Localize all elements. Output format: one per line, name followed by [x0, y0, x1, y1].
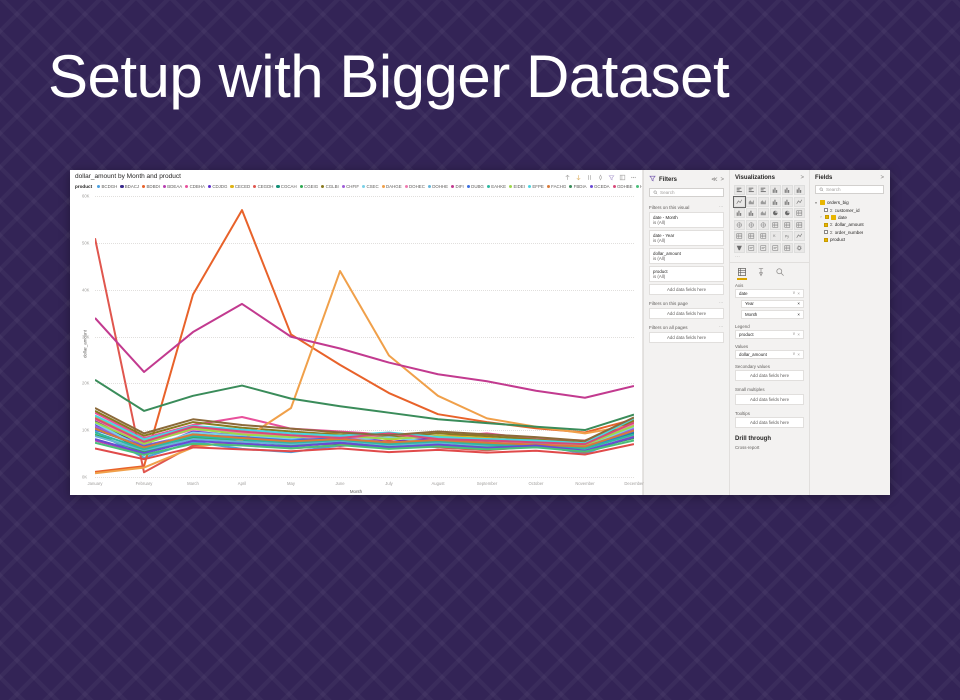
visualization-type-col[interactable] [770, 185, 781, 195]
svg-text:K: K [774, 234, 777, 238]
field-well-chip[interactable]: product∨× [735, 330, 804, 339]
chevron-down-icon[interactable]: ∨ [792, 331, 795, 337]
visualization-type-grid[interactable]: KPy [730, 185, 809, 253]
legend-color-swatch [590, 185, 593, 188]
legend-color-swatch [382, 185, 385, 188]
chevron-down-icon[interactable]: ∨ [792, 290, 795, 296]
legend-color-swatch [528, 185, 531, 188]
x-axis-tick-label: February [136, 481, 153, 486]
chart-legend[interactable]: product BCDGHBDACJBDBDIBDEAACDBHACDJDGCE… [70, 183, 642, 192]
field-well-subfield[interactable]: Year× [741, 300, 804, 309]
field-wells[interactable]: Axisdate∨×Year×Month×Legendproduct∨×Valu… [730, 280, 809, 432]
x-axis-tick-label: April [238, 481, 246, 486]
legend-item-label: GDHBE [617, 184, 633, 189]
visualization-type-gear[interactable] [794, 243, 805, 253]
legend-color-swatch [509, 185, 512, 188]
field-well-label: Small multiples [730, 384, 809, 394]
field-well-chip-name: date [739, 291, 790, 296]
field-well-dropzone[interactable]: Add data fields here [735, 370, 804, 381]
visualization-type-line[interactable] [794, 197, 805, 207]
viz-grid-more-icon[interactable]: ⋯ [730, 253, 809, 262]
legend-item[interactable]: CDJDG [208, 184, 228, 189]
svg-text:Py: Py [785, 234, 789, 238]
visualization-type-map[interactable] [734, 220, 745, 230]
field-well-label: Tooltips [730, 408, 809, 418]
filter-field-value: is (All) [653, 238, 720, 243]
search-icon [819, 187, 824, 192]
visualization-type-bar[interactable] [734, 185, 745, 195]
legend-item[interactable]: DOHHE [428, 184, 448, 189]
drill-through-title: Drill through [730, 431, 809, 444]
focus-mode-icon[interactable] [619, 174, 626, 181]
filters-pane: Filters ≪ > Search Filters on this visua… [643, 170, 729, 495]
field-checkbox[interactable] [825, 215, 829, 219]
legend-color-swatch [253, 185, 256, 188]
filter-dropzone[interactable]: Add data fields here [649, 284, 724, 295]
visualizations-pane-title: Visualizations [735, 175, 797, 181]
filter-card[interactable]: date - Yearis (All) [649, 230, 724, 246]
filter-dropzone[interactable]: Add data fields here [649, 308, 724, 319]
visualization-type-col[interactable] [734, 208, 745, 218]
field-well-chip-name: product [739, 332, 790, 337]
fields-pane: Fields > Search ▾ orders_big Σcustomer_i… [809, 170, 889, 495]
filters-search-placeholder: Search [660, 190, 675, 195]
legend-item-label: CDJDG [212, 184, 227, 189]
visualization-type-col[interactable] [782, 185, 793, 195]
chevron-down-icon[interactable]: ▾ [814, 201, 818, 205]
legend-item-label: BDACJ [125, 184, 139, 189]
remove-field-icon[interactable]: × [797, 352, 800, 357]
legend-item-label: GCEDA [594, 184, 610, 189]
x-axis-tick-label: August [431, 481, 444, 486]
legend-item-label: HBCEA [640, 184, 642, 189]
filter-field-value: is (All) [653, 220, 720, 225]
x-axis-tick-label: September [477, 481, 497, 486]
expand-hierarchy-icon[interactable] [586, 174, 593, 181]
field-checkbox[interactable] [824, 223, 828, 227]
legend-item[interactable]: HBCEA [636, 184, 642, 189]
visualization-type-py[interactable]: Py [782, 231, 793, 241]
fields-search-placeholder: Search [826, 187, 841, 192]
field-well-subfield-name: Year [745, 301, 797, 306]
fields-list[interactable]: Σcustomer_id›dateΣdollar_amountΣorder_nu… [810, 206, 889, 243]
visualization-type-area[interactable] [758, 197, 769, 207]
visualization-type-pie[interactable] [782, 208, 793, 218]
fields-search-input[interactable]: Search [815, 185, 884, 194]
filter-section-title: Filters on this visual [649, 205, 719, 210]
drill-up-icon[interactable] [564, 174, 571, 181]
visualization-type-card[interactable] [746, 243, 757, 253]
expand-visualizations-icon[interactable]: > [800, 175, 804, 181]
calendar-icon [831, 215, 836, 220]
filter-section-title: Filters on this page [649, 301, 719, 306]
filter-card[interactable]: date - Monthis (All) [649, 212, 724, 228]
fields-table-name: orders_big [827, 200, 849, 205]
legend-item[interactable]: BCDGH [97, 184, 117, 189]
fields-pane-title: Fields [815, 175, 877, 181]
legend-color-swatch [467, 185, 470, 188]
visual-title: dollar_amount by Month and product [75, 173, 564, 180]
visualization-pane-tabs[interactable] [730, 262, 809, 280]
legend-item-label: CSEC [366, 184, 378, 189]
line-chart-visual[interactable]: dollar_amount by Month and product produ… [70, 170, 642, 495]
field-well-subfield-name: Month [745, 312, 797, 317]
filter-section-label: Filters on this visual⋯ [644, 202, 729, 212]
legend-item-label: DUBG [471, 184, 484, 189]
field-well-dropzone[interactable]: Add data fields here [735, 394, 804, 405]
field-list-item[interactable]: ›date [810, 214, 889, 221]
legend-item[interactable]: CHFIF [342, 184, 359, 189]
legend-item-label: CECED [235, 184, 250, 189]
x-axis-label: Month [70, 489, 642, 494]
visualization-type-fun[interactable] [734, 243, 745, 253]
remove-field-icon[interactable]: × [797, 332, 800, 337]
visualizations-pane-header: Visualizations > [730, 170, 809, 185]
field-list-item[interactable]: Σcustomer_id [810, 206, 889, 213]
visual-toolbar[interactable] [564, 173, 637, 181]
filter-field-value: is (All) [653, 274, 720, 279]
y-axis-tick-label: 10K [82, 428, 89, 433]
legend-item-label: CGLBI [326, 184, 339, 189]
legend-color-swatch [451, 185, 454, 188]
expand-filters-icon[interactable]: > [720, 177, 724, 183]
legend-item-label: FBDIA [574, 184, 587, 189]
field-well-chip-name: dollar_amount [739, 352, 790, 357]
legend-item[interactable]: GCEDA [590, 184, 610, 189]
y-axis-tick-label: 40K [82, 287, 89, 292]
visualization-type-area[interactable] [746, 197, 757, 207]
visualization-type-col[interactable] [794, 185, 805, 195]
legend-item[interactable]: DIFI [451, 184, 464, 189]
field-name: customer_id [835, 208, 860, 213]
x-axis-tick-label: January [88, 481, 103, 486]
legend-item-label: CDBHA [190, 184, 205, 189]
legend-item[interactable]: EFPE [528, 184, 544, 189]
y-axis-tick-label: 0K [82, 475, 87, 480]
x-axis-tick-label: June [335, 481, 344, 486]
visualization-type-map[interactable] [758, 220, 769, 230]
legend-item-label: DIFI [455, 184, 463, 189]
legend-item[interactable]: CSEC [362, 184, 379, 189]
x-axis-tick-label: March [187, 481, 199, 486]
visualization-type-tbl[interactable] [782, 243, 793, 253]
visualization-type-tbl[interactable] [782, 220, 793, 230]
legend-item-label: CGCAH [281, 184, 297, 189]
legend-item[interactable]: CGEIG [300, 184, 319, 189]
visualization-type-col[interactable] [782, 197, 793, 207]
legend-item-label: DOHHE [432, 184, 448, 189]
legend-item[interactable]: CEGDH [253, 184, 273, 189]
filters-pane-title: Filters [659, 177, 708, 183]
legend-item-label: CEGDH [258, 184, 274, 189]
visualization-type-tbl[interactable] [734, 231, 745, 241]
legend-color-swatch [362, 185, 365, 188]
visualization-type-tbl[interactable] [794, 220, 805, 230]
legend-color-swatch [342, 185, 345, 188]
legend-color-swatch [300, 185, 303, 188]
visualization-type-line[interactable] [794, 231, 805, 241]
legend-item-label: DAHGE [386, 184, 402, 189]
field-checkbox[interactable] [824, 208, 828, 212]
sigma-icon: Σ [830, 222, 833, 227]
field-name: dollar_amount [835, 222, 864, 227]
legend-color-swatch [163, 185, 166, 188]
visualization-type-map[interactable] [746, 220, 757, 230]
legend-item[interactable]: BDACJ [120, 184, 139, 189]
legend-items[interactable]: BCDGHBDACJBDBDIBDEAACDBHACDJDGCECEDCEGDH… [97, 184, 642, 189]
y-axis-tick-label: 20K [82, 381, 89, 386]
chart-line-series[interactable] [95, 380, 634, 430]
legend-color-swatch [142, 185, 145, 188]
field-well-label: Legend [730, 321, 809, 331]
visualization-type-col[interactable] [770, 197, 781, 207]
legend-color-swatch [120, 185, 123, 188]
legend-color-swatch [405, 185, 408, 188]
field-list-item[interactable]: Σorder_number [810, 229, 889, 236]
field-checkbox[interactable] [824, 230, 828, 234]
field-well-label: Secondary values [730, 361, 809, 371]
legend-item[interactable]: CDBHA [185, 184, 205, 189]
remove-field-icon[interactable]: × [797, 291, 800, 296]
remove-field-icon[interactable]: × [797, 301, 800, 306]
legend-color-swatch [636, 185, 639, 188]
chevron-down-icon[interactable]: ∨ [792, 351, 795, 357]
legend-item-label: EIDEI [513, 184, 524, 189]
chart-lines[interactable] [95, 196, 634, 477]
legend-color-swatch [428, 185, 431, 188]
legend-item-label: BCDGH [101, 184, 117, 189]
tab-analytics[interactable] [775, 267, 785, 278]
filter-section-label: Filters on this page⋯ [644, 298, 729, 308]
powerbi-window: dollar_amount by Month and product produ… [70, 170, 890, 495]
filter-dropzone[interactable]: Add data fields here [649, 332, 724, 343]
legend-item[interactable]: DUBG [467, 184, 484, 189]
legend-item[interactable]: CGLBI [321, 184, 339, 189]
sigma-icon: Σ [830, 230, 833, 235]
funnel-icon [649, 175, 656, 184]
filters-pane-header: Filters ≪ > [644, 170, 729, 188]
legend-item[interactable]: DOHEC [405, 184, 425, 189]
legend-color-swatch [185, 185, 188, 188]
field-well-subfield[interactable]: Month× [741, 310, 804, 319]
x-axis-tick-label: October [529, 481, 544, 486]
legend-color-swatch [276, 185, 279, 188]
report-canvas[interactable]: dollar_amount by Month and product produ… [70, 170, 643, 495]
field-list-item[interactable]: product [810, 236, 889, 243]
x-axis-tick-label: December [624, 481, 643, 486]
visualization-type-tbl[interactable] [770, 220, 781, 230]
visualization-type-card[interactable] [770, 243, 781, 253]
y-axis-tick-label: 30K [82, 334, 89, 339]
more-options-icon[interactable] [630, 174, 637, 181]
filter-icon[interactable] [608, 174, 615, 181]
table-icon [820, 200, 825, 205]
legend-color-swatch [487, 185, 490, 188]
field-name: date [838, 215, 847, 220]
chevron-right-icon[interactable]: › [819, 215, 823, 219]
drill-mode-icon[interactable] [597, 174, 604, 181]
filter-section-title: Filters on all pages [649, 325, 719, 330]
field-well-chip[interactable]: dollar_amount∨× [735, 350, 804, 359]
field-well-dropzone[interactable]: Add data fields here [735, 417, 804, 428]
search-icon [653, 190, 658, 195]
drill-down-icon[interactable] [575, 174, 582, 181]
field-well-chip[interactable]: date∨× [735, 289, 804, 298]
tab-fields[interactable] [737, 267, 747, 278]
visualization-type-bar[interactable] [758, 185, 769, 195]
field-well-label: Values [730, 341, 809, 351]
visualization-type-kpi[interactable]: K [770, 231, 781, 241]
fields-table-row[interactable]: ▾ orders_big [810, 199, 889, 206]
filter-section-label: Filters on all pages⋯ [644, 322, 729, 332]
visualization-type-tbl[interactable] [758, 231, 769, 241]
field-name: product [830, 237, 845, 242]
legend-item[interactable]: CGCAH [276, 184, 296, 189]
legend-color-swatch [97, 185, 100, 188]
legend-item[interactable]: FACHG [547, 184, 567, 189]
filter-section-more-icon[interactable]: ⋯ [719, 324, 724, 330]
sigma-icon: Σ [830, 208, 833, 213]
cross-report-label: Cross-report [730, 444, 809, 451]
legend-item[interactable]: GDHBE [613, 184, 633, 189]
field-well-label: Axis [730, 280, 809, 290]
tab-format[interactable] [756, 267, 766, 278]
legend-color-swatch [321, 185, 324, 188]
legend-color-swatch [569, 185, 572, 188]
visualization-type-bar[interactable] [746, 185, 757, 195]
y-axis-tick-label: 50K [82, 240, 89, 245]
filter-card[interactable]: dollar_amountis (All) [649, 248, 724, 264]
legend-item[interactable]: FBDIA [569, 184, 586, 189]
visualization-type-tbl[interactable] [794, 208, 805, 218]
x-axis-tick-label: July [385, 481, 392, 486]
legend-item[interactable]: EIDEI [509, 184, 525, 189]
visualization-type-area[interactable] [758, 208, 769, 218]
field-list-item[interactable]: Σdollar_amount [810, 221, 889, 228]
legend-item-label: BDBDI [147, 184, 160, 189]
field-checkbox[interactable] [824, 238, 828, 242]
remove-field-icon[interactable]: × [797, 312, 800, 317]
visualization-type-col[interactable] [746, 208, 757, 218]
plot-area: dollar_amount 0K10K20K30K40K50K60K Janua… [70, 192, 642, 495]
legend-title: product [75, 184, 92, 189]
filter-section-more-icon[interactable]: ⋯ [719, 204, 724, 210]
legend-item[interactable]: BDEAA [163, 184, 182, 189]
field-name: order_number [835, 230, 864, 235]
visualization-type-line[interactable] [734, 197, 745, 207]
visual-header: dollar_amount by Month and product [70, 170, 642, 183]
legend-item-label: BDEAA [167, 184, 182, 189]
filters-search-input[interactable]: Search [649, 188, 724, 197]
legend-item[interactable]: EAHKE [487, 184, 506, 189]
legend-color-swatch [547, 185, 550, 188]
x-axis-tick-label: November [575, 481, 594, 486]
legend-color-swatch [613, 185, 616, 188]
legend-item[interactable]: CECED [230, 184, 250, 189]
visualization-type-pie[interactable] [770, 208, 781, 218]
x-axis-tick-label: May [287, 481, 295, 486]
visualization-type-tbl[interactable] [746, 231, 757, 241]
page-title: Setup with Bigger Dataset [48, 44, 729, 110]
legend-item-label: EAHKE [491, 184, 506, 189]
expand-fields-icon[interactable]: > [880, 175, 884, 181]
fields-pane-header: Fields > [810, 170, 889, 185]
legend-item[interactable]: BDBDI [142, 184, 160, 189]
legend-color-swatch [208, 185, 211, 188]
legend-item-label: FACHG [551, 184, 566, 189]
legend-item-label: DOHEC [409, 184, 425, 189]
legend-item-label: EFPE [532, 184, 543, 189]
chart-line-series[interactable] [95, 304, 634, 398]
collapse-filters-icon[interactable]: ≪ [711, 176, 717, 183]
legend-color-swatch [230, 185, 233, 188]
legend-item[interactable]: DAHGE [382, 184, 402, 189]
filters-body[interactable]: Filters on this visual⋯date - Monthis (A… [644, 202, 729, 346]
legend-item-label: CHFIF [346, 184, 359, 189]
filter-field-value: is (All) [653, 256, 720, 261]
y-axis-tick-label: 60K [82, 194, 89, 199]
filter-card[interactable]: productis (All) [649, 266, 724, 282]
visualization-type-card[interactable] [758, 243, 769, 253]
filter-section-more-icon[interactable]: ⋯ [719, 300, 724, 306]
legend-item-label: CGEIG [304, 184, 318, 189]
visualizations-pane: Visualizations > KPy ⋯ Axisdate∨×Year×Mo… [729, 170, 809, 495]
